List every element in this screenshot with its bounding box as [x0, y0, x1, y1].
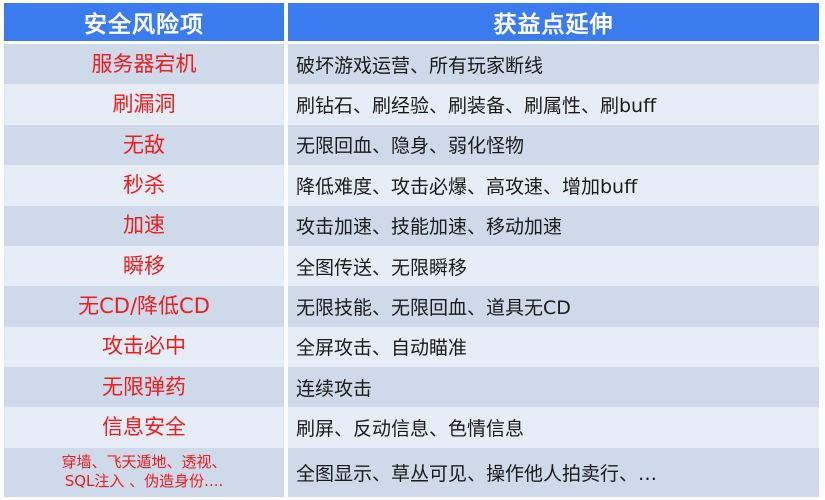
cell-risk: 信息安全 [4, 407, 284, 447]
table-row: 穿墙、飞天遁地、透视、 SQL注入 、伪造身份.... 全图显示、草丛可见、操作… [4, 448, 819, 497]
cell-benefit: 无限技能、无限回血、道具无CD [288, 286, 819, 326]
table-row: 信息安全 刷屏、反动信息、色情信息 [4, 407, 819, 447]
cell-risk: 刷漏洞 [4, 84, 284, 124]
cell-benefit: 全图传送、无限瞬移 [288, 246, 819, 286]
table-row: 无CD/降低CD 无限技能、无限回血、道具无CD [4, 286, 819, 326]
cell-benefit: 全屏攻击、自动瞄准 [288, 327, 819, 367]
table-row: 刷漏洞 刷钻石、刷经验、刷装备、刷属性、刷buff [4, 84, 819, 124]
column-header-risk: 安全风险项 [4, 3, 284, 41]
cell-risk: 无限弹药 [4, 367, 284, 407]
cell-risk: 瞬移 [4, 246, 284, 286]
risk-benefit-table: 安全风险项 获益点延伸 服务器宕机 破坏游戏运营、所有玩家断线 刷漏洞 刷钻石、… [4, 3, 819, 497]
table-row: 无敌 无限回血、隐身、弱化怪物 [4, 125, 819, 165]
cell-risk: 穿墙、飞天遁地、透视、 SQL注入 、伪造身份.... [4, 448, 284, 497]
cell-benefit: 全图显示、草丛可见、操作他人拍卖行、… [288, 448, 819, 497]
cell-benefit: 降低难度、攻击必爆、高攻速、增加buff [288, 165, 819, 205]
cell-risk: 无敌 [4, 125, 284, 165]
cell-risk: 加速 [4, 206, 284, 246]
table-row: 无限弹药 连续攻击 [4, 367, 819, 407]
table-row: 攻击必中 全屏攻击、自动瞄准 [4, 327, 819, 367]
cell-risk-line-1: 穿墙、飞天遁地、透视、 [61, 453, 226, 473]
cell-benefit: 无限回血、隐身、弱化怪物 [288, 125, 819, 165]
cell-benefit: 攻击加速、技能加速、移动加速 [288, 206, 819, 246]
cell-risk-line-2: SQL注入 、伪造身份.... [61, 472, 226, 492]
cell-benefit: 刷钻石、刷经验、刷装备、刷属性、刷buff [288, 84, 819, 124]
cell-benefit: 破坏游戏运营、所有玩家断线 [288, 44, 819, 84]
table-body: 服务器宕机 破坏游戏运营、所有玩家断线 刷漏洞 刷钻石、刷经验、刷装备、刷属性、… [4, 44, 819, 497]
table-row: 秒杀 降低难度、攻击必爆、高攻速、增加buff [4, 165, 819, 205]
table-row: 加速 攻击加速、技能加速、移动加速 [4, 206, 819, 246]
cell-risk: 秒杀 [4, 165, 284, 205]
column-header-benefit: 获益点延伸 [288, 3, 819, 41]
cell-risk: 服务器宕机 [4, 44, 284, 84]
cell-risk: 无CD/降低CD [4, 286, 284, 326]
table-row: 服务器宕机 破坏游戏运营、所有玩家断线 [4, 44, 819, 84]
table-row: 瞬移 全图传送、无限瞬移 [4, 246, 819, 286]
table-header-row: 安全风险项 获益点延伸 [4, 3, 819, 41]
cell-risk: 攻击必中 [4, 327, 284, 367]
cell-benefit: 刷屏、反动信息、色情信息 [288, 407, 819, 447]
cell-benefit: 连续攻击 [288, 367, 819, 407]
